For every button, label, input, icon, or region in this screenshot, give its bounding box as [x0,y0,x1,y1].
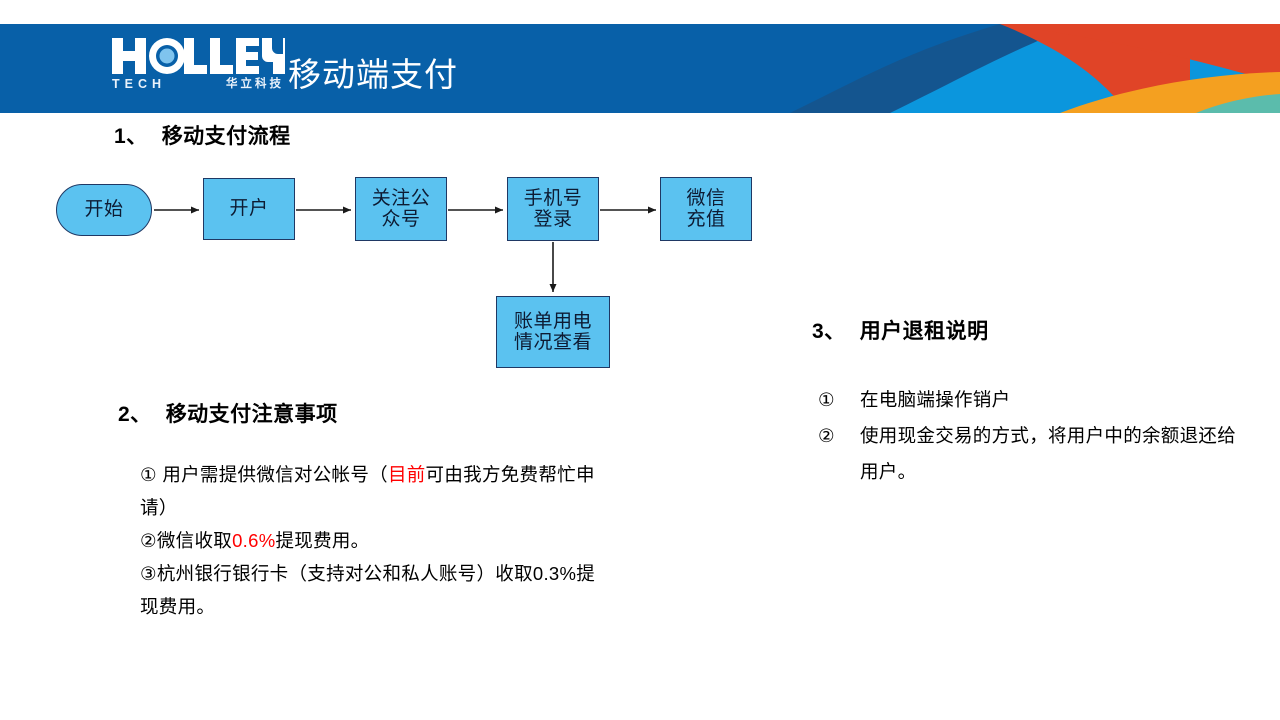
section-title-1: 移动支付流程 [162,125,291,148]
flow-node-phone-login[interactable]: 手机号 登录 [507,177,599,241]
note-1-part-a: ① 用户需提供微信对公帐号（ [140,464,388,485]
refund-text: 使用现金交易的方式，将用户中的余额退还给用户。 [860,418,1238,490]
flow-node-follow-official-account[interactable]: 关注公 众号 [355,177,447,241]
section-heading-flow: 1、移动支付流程 [114,120,291,150]
flow-node-open-account[interactable]: 开户 [203,178,295,240]
section-heading-notes: 2、移动支付注意事项 [118,398,338,428]
holley-tech-row: TECH 华立科技 [112,78,284,91]
refund-text: 在电脑端操作销户 [860,382,1238,418]
note-2-part-b: 提现费用。 [275,530,369,551]
notes-list: ① 用户需提供微信对公帐号（目前可由我方免费帮忙申请） ②微信收取0.6%提现费… [140,459,660,624]
section-title-2: 移动支付注意事项 [166,403,338,426]
refund-list: ① 在电脑端操作销户 ② 使用现金交易的方式，将用户中的余额退还给用户。 [818,382,1238,490]
logo-tech-latin: TECH [112,78,166,91]
refund-item: ① 在电脑端操作销户 [818,382,1238,418]
section-heading-refund: 3、用户退租说明 [812,315,989,345]
flow-node-wechat-recharge[interactable]: 微信 充值 [660,177,752,241]
refund-marker: ② [818,418,860,454]
section-number-1: 1、 [114,125,148,148]
refund-marker: ① [818,382,860,418]
section-number-2: 2、 [118,403,152,426]
flow-node-bill-usage-view[interactable]: 账单用电 情况查看 [496,296,610,368]
note-2-part-a: ②微信收取 [140,530,232,551]
note-1-highlight: 目前 [388,464,426,485]
holley-logo: TECH 华立科技 [110,36,285,98]
page-title: 移动端支付 [288,48,458,96]
holley-wordmark-icon [110,34,285,78]
flow-node-start[interactable]: 开始 [56,184,152,236]
refund-item: ② 使用现金交易的方式，将用户中的余额退还给用户。 [818,418,1238,490]
section-number-3: 3、 [812,320,846,343]
section-title-3: 用户退租说明 [860,320,989,343]
note-item-1: ① 用户需提供微信对公帐号（目前可由我方免费帮忙申请） [140,459,610,525]
logo-tech-chinese: 华立科技 [226,79,284,91]
note-2-highlight: 0.6% [232,530,275,551]
note-item-3: ③杭州银行银行卡（支持对公和私人账号）收取0.3%提现费用。 [140,558,610,624]
note-item-2: ②微信收取0.6%提现费用。 [140,525,660,558]
